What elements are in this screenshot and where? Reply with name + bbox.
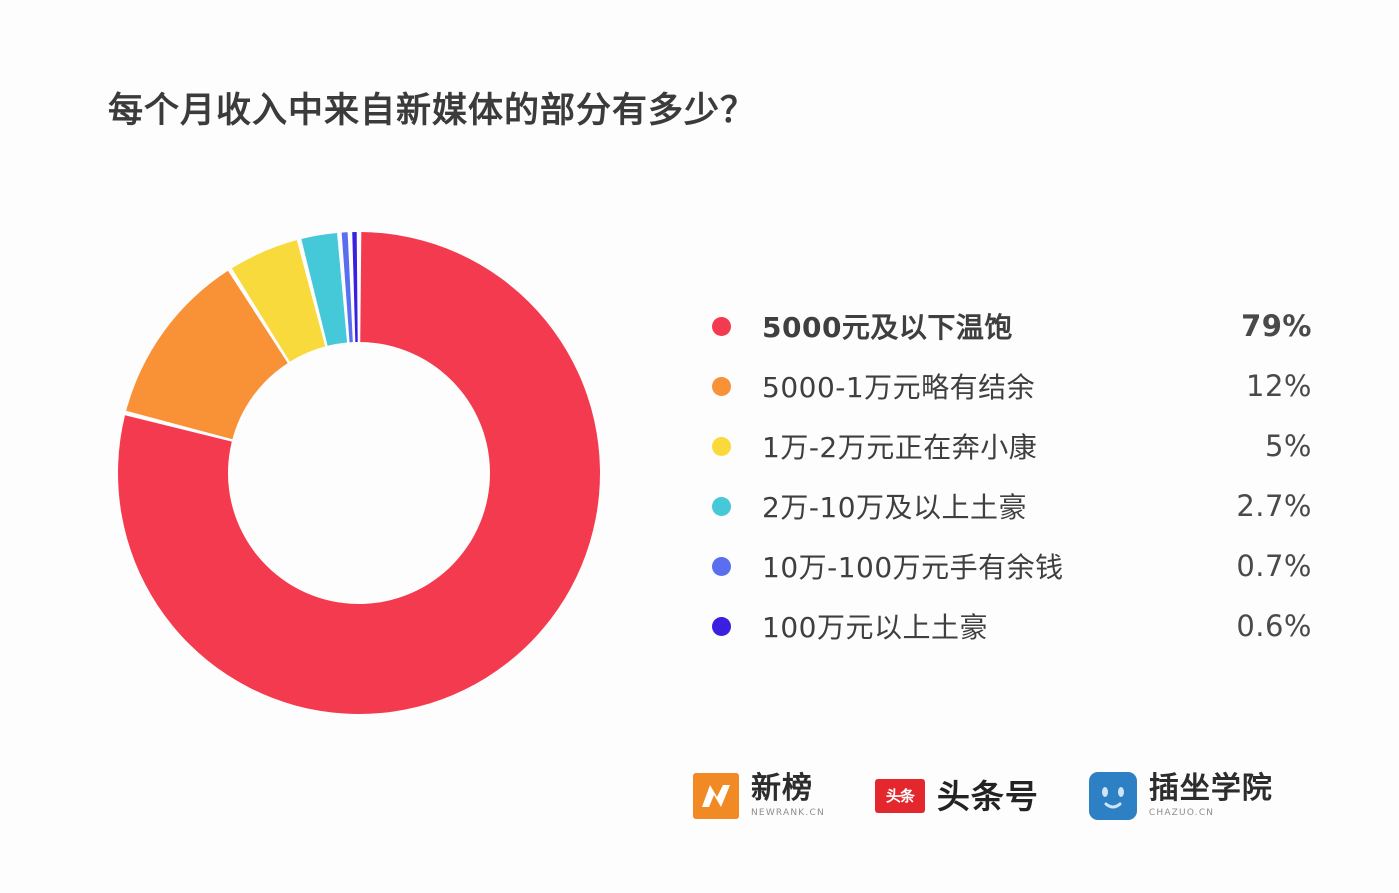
chazuo-logo-name: 插坐学院 [1149, 774, 1273, 804]
legend-label-3: 2万-10万及以上土豪 [762, 486, 1192, 526]
legend-label-2: 1万-2万元正在奔小康 [762, 426, 1192, 466]
chart-legend: 5000元及以下温饱 79% 5000-1万元略有结余 12% 1万-2万元正在… [712, 296, 1312, 656]
logo-chazuo: 插坐学院 CHAZUO.CN [1089, 772, 1273, 820]
legend-label-0: 5000元及以下温饱 [762, 306, 1192, 346]
legend-value-1: 12% [1192, 369, 1312, 403]
legend-item-3[interactable]: 2万-10万及以上土豪 2.7% [712, 476, 1312, 536]
legend-item-2[interactable]: 1万-2万元正在奔小康 5% [712, 416, 1312, 476]
chazuo-face-glyph [1089, 772, 1137, 820]
newrank-logo-sub: NEWRANK.CN [751, 809, 825, 818]
legend-value-0: 79% [1192, 309, 1312, 343]
newrank-n-glyph [693, 773, 739, 819]
legend-dot-yellow [712, 437, 731, 456]
legend-dot-orange [712, 377, 731, 396]
chazuo-logo-sub: CHAZUO.CN [1149, 809, 1273, 818]
legend-label-1: 5000-1万元略有结余 [762, 366, 1192, 406]
legend-value-5: 0.6% [1192, 609, 1312, 643]
chazuo-logo-text: 插坐学院 CHAZUO.CN [1149, 774, 1273, 818]
legend-dot-red [712, 317, 731, 336]
toutiaohao-logo-text: 头条号 [937, 780, 1039, 813]
toutiaohao-logo-icon: 头条 [875, 779, 925, 813]
legend-value-2: 5% [1192, 429, 1312, 463]
legend-value-3: 2.7% [1192, 489, 1312, 523]
legend-item-0[interactable]: 5000元及以下温饱 79% [712, 296, 1312, 356]
toutiaohao-mark-text: 头条 [886, 789, 914, 804]
footer-logo-bar: 新榜 NEWRANK.CN 头条 头条号 插坐学院 CHAZUO.CN [693, 772, 1273, 820]
donut-slice-5[interactable] [352, 232, 358, 342]
legend-label-5: 100万元以上土豪 [762, 606, 1192, 646]
legend-label-4: 10万-100万元手有余钱 [762, 546, 1192, 586]
legend-item-4[interactable]: 10万-100万元手有余钱 0.7% [712, 536, 1312, 596]
newrank-logo-icon [693, 773, 739, 819]
donut-slice-group [118, 232, 600, 714]
legend-dot-cyan [712, 497, 731, 516]
logo-toutiaohao: 头条 头条号 [875, 779, 1039, 813]
newrank-logo-text: 新榜 NEWRANK.CN [751, 774, 825, 818]
donut-chart [113, 227, 605, 719]
newrank-logo-name: 新榜 [751, 774, 825, 804]
legend-item-1[interactable]: 5000-1万元略有结余 12% [712, 356, 1312, 416]
donut-chart-svg [113, 227, 605, 719]
legend-value-4: 0.7% [1192, 549, 1312, 583]
legend-dot-indigo [712, 617, 731, 636]
page-title: 每个月收入中来自新媒体的部分有多少？ [108, 82, 756, 133]
chazuo-logo-icon [1089, 772, 1137, 820]
toutiaohao-logo-name: 头条号 [937, 780, 1039, 813]
legend-dot-periwinkle [712, 557, 731, 576]
logo-newrank: 新榜 NEWRANK.CN [693, 773, 825, 819]
legend-item-5[interactable]: 100万元以上土豪 0.6% [712, 596, 1312, 656]
